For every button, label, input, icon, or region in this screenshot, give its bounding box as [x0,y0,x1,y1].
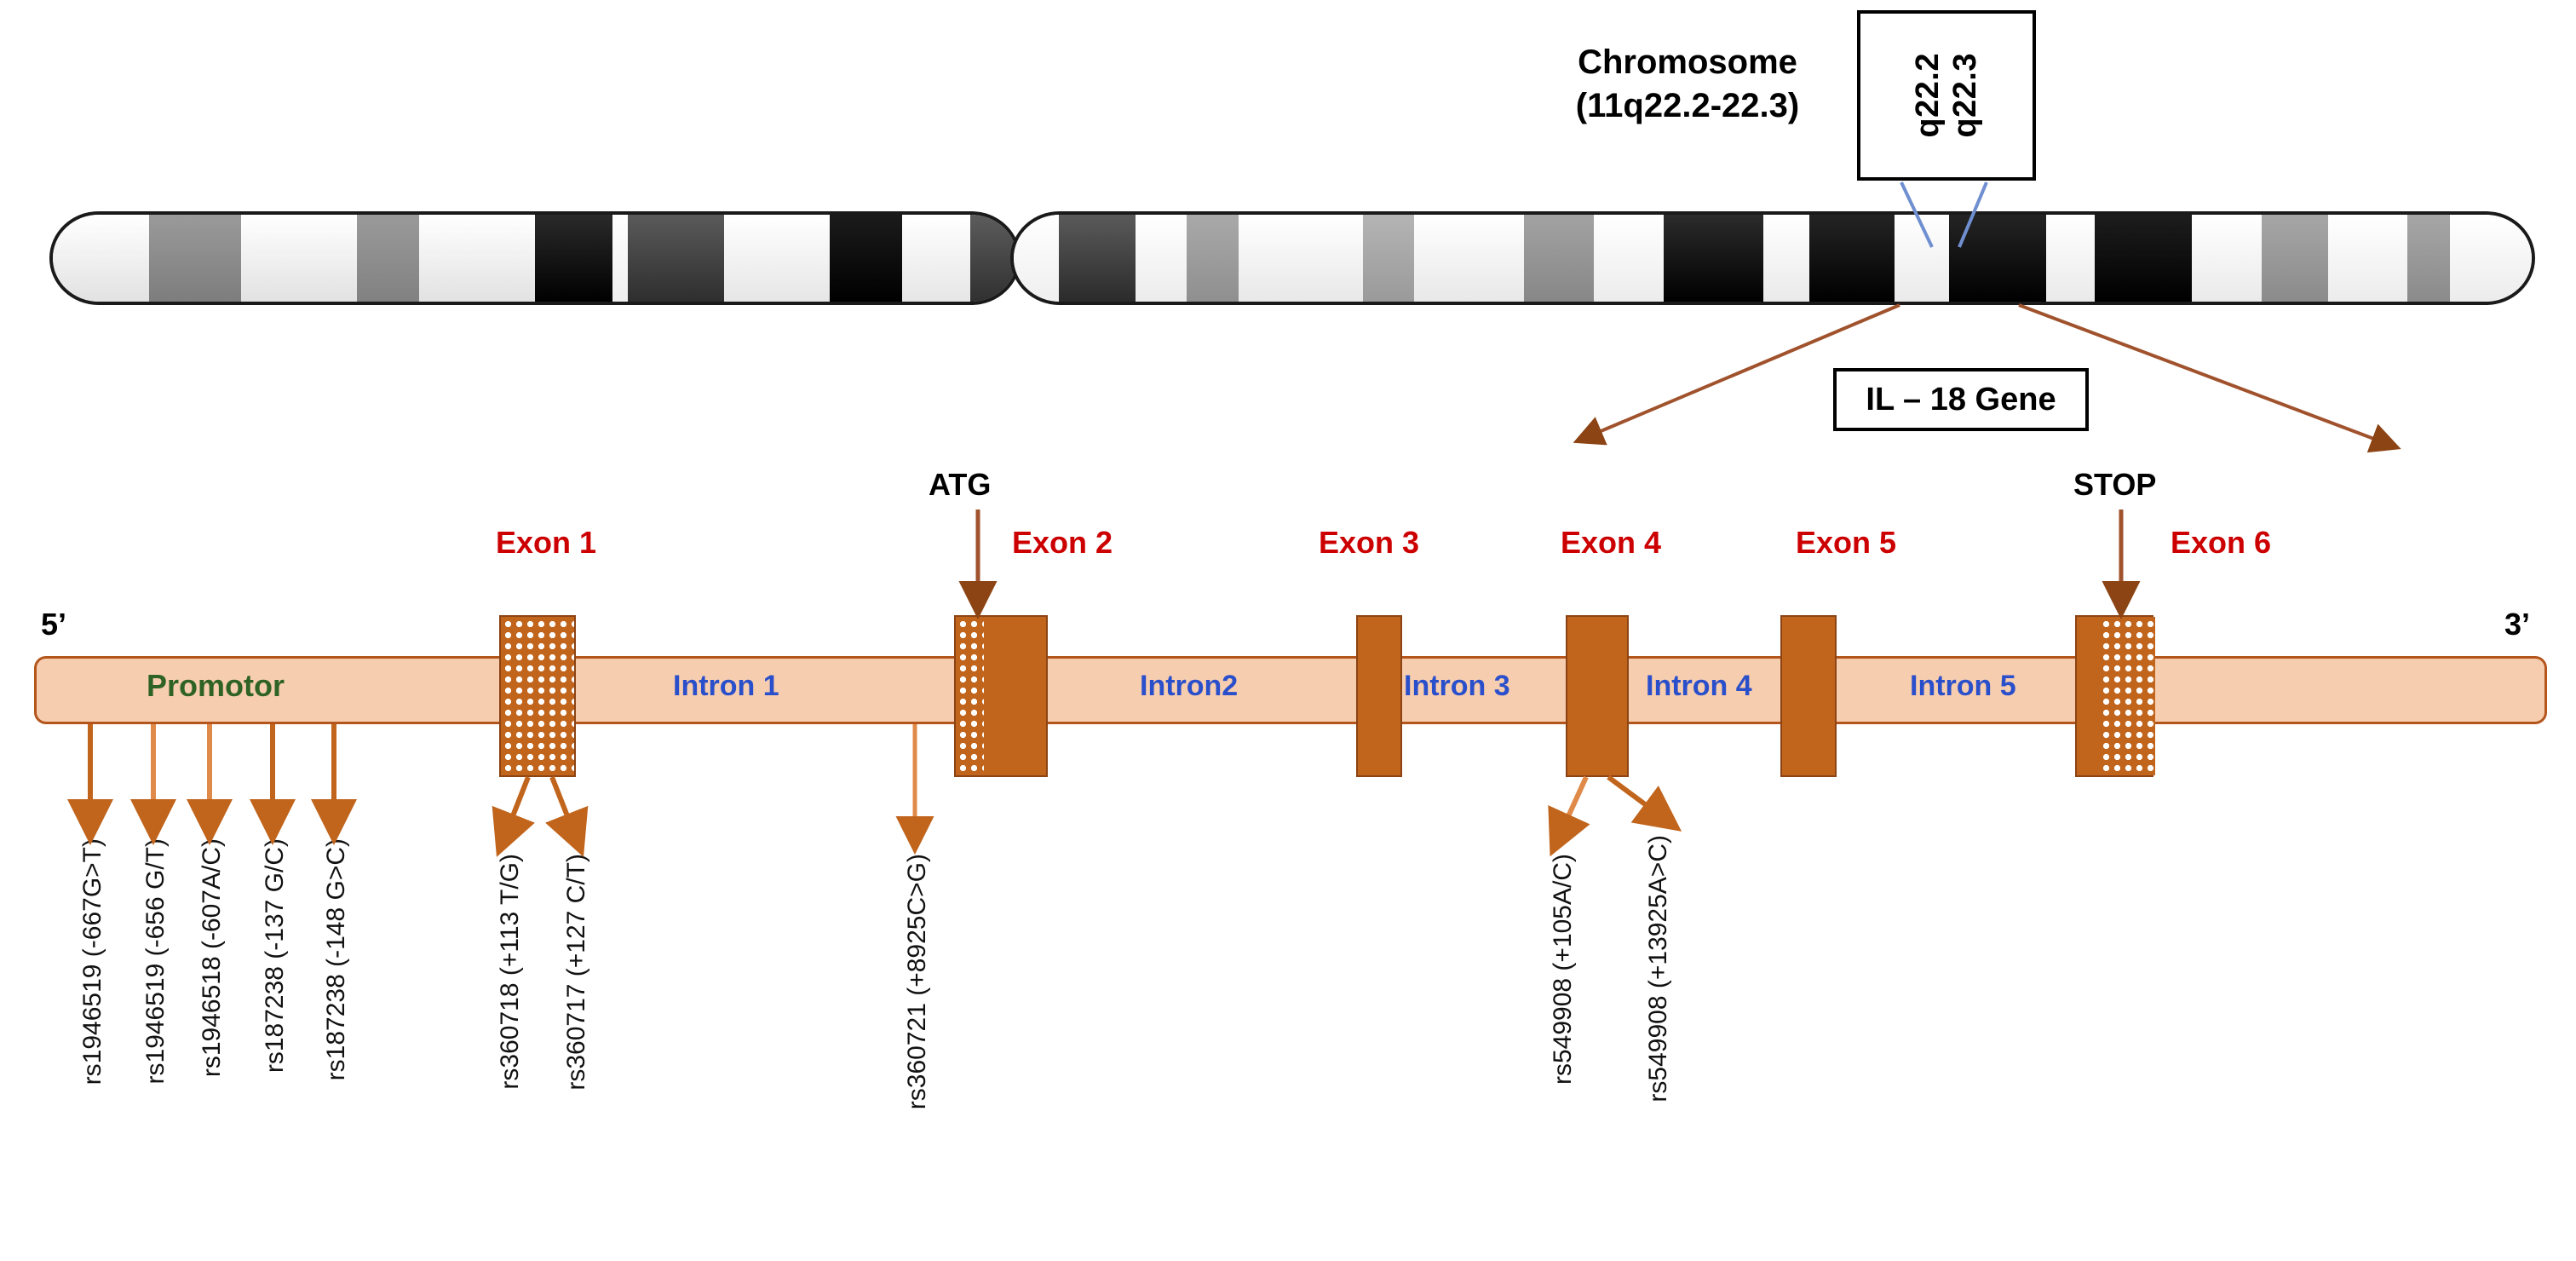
exon1-snp-arrows [506,777,574,833]
exon-box-1 [499,615,576,777]
exon-box-6 [2075,615,2153,777]
intron-label-2: Intron2 [1140,670,1238,703]
chromosome-q-arm [1010,211,2535,305]
exon-label-6: Exon 6 [2171,525,2271,561]
exon4-snp-arrows [1561,777,1661,833]
exon-label-5: Exon 5 [1796,525,1896,561]
intron-label-4: Intron 4 [1646,670,1752,703]
five-prime-label: 5’ [41,607,66,642]
exon-label-1: Exon 1 [496,525,596,561]
three-prime-label: 3’ [2504,607,2530,642]
chromosome-title-line2: (11q22.2-22.3) [1504,84,1871,128]
intron-label-3: Intron 3 [1404,670,1510,703]
snp-label-rs1946518-607: rs1946518 (-607A/C) [198,838,227,1077]
intron-label-1: Intron 1 [673,670,779,703]
exon-label-2: Exon 2 [1012,525,1113,561]
snp-label-rs360721: rs360721 (+8925C>G) [903,854,932,1109]
stop-codon-label: STOP [2073,467,2156,503]
chromosome-title-line1: Chromosome [1504,41,1871,84]
snp-label-rs1946519-656: rs1946519 (-656 G/T) [141,838,170,1084]
exon-box-3 [1356,615,1402,777]
il18-gene-label: IL – 18 Gene [1866,382,2056,418]
snp-label-rs360717: rs360717 (+127 C/T) [562,854,591,1091]
band-label-q22-2: q22.2 [1912,53,1944,138]
q-arm-bands [1014,215,2532,302]
exon-label-3: Exon 3 [1319,525,1419,561]
band-label-q22-3: q22.3 [1949,53,1981,138]
band-callout-box: q22.2 q22.3 [1857,10,2036,181]
p-arm-bands [53,215,1017,302]
snp-label-rs187238-137: rs187238 (-137 G/C) [261,838,290,1073]
chromosome-title: Chromosome (11q22.2-22.3) [1504,41,1871,128]
exon-label-4: Exon 4 [1561,525,1661,561]
promotor-snp-arrows [90,724,334,820]
exon-box-2 [954,615,1048,777]
exon-box-4 [1566,615,1629,777]
exon-box-5 [1780,615,1837,777]
snp-label-rs360718: rs360718 (+113 T/G) [496,854,525,1090]
gene-body-bar [34,656,2547,724]
snp-label-rs187238-148: rs187238 (-148 G>C) [322,838,351,1080]
connector-overlay [0,0,2576,1261]
il18-gene-label-box: IL – 18 Gene [1833,368,2089,431]
snp-label-rs1946519-667: rs1946519 (-667G>T) [78,838,107,1085]
snp-label-rs549908-105: rs549908 (+105A/C) [1549,854,1578,1085]
promotor-label: Promotor [147,668,285,704]
start-codon-label: ATG [929,467,991,503]
chromosome-p-arm [49,211,1021,305]
snp-label-rs549908-13925: rs549908 (+13925A>C) [1644,835,1673,1103]
chromosome-ideogram [0,211,2576,305]
intron-label-5: Intron 5 [1910,670,2016,703]
